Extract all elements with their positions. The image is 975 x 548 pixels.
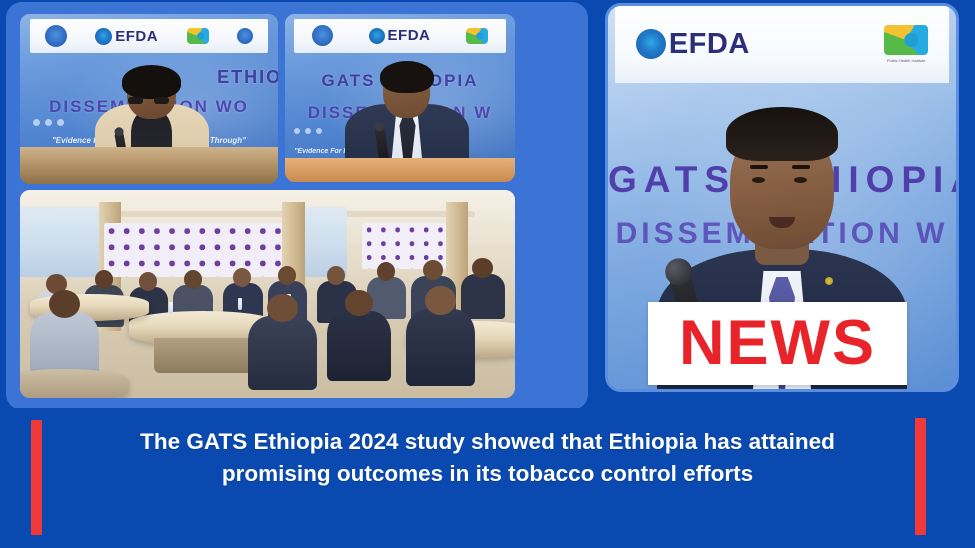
news-badge-label: NEWS bbox=[679, 312, 876, 375]
efda-logo-icon: EFDA bbox=[369, 27, 431, 44]
podium-table bbox=[285, 158, 515, 182]
lapel-pin-icon bbox=[825, 277, 833, 285]
efda-logo-text: EFDA bbox=[115, 28, 158, 45]
photo-man-speaker: EFDA GATS ETHIOPIA DISSEMINATION W "Evid… bbox=[285, 14, 515, 182]
who-logo-icon bbox=[45, 25, 67, 47]
who-logo-icon bbox=[312, 25, 333, 46]
round-table bbox=[20, 369, 129, 398]
water-bottle bbox=[169, 302, 173, 314]
efda-logo-icon: EFDA bbox=[636, 28, 750, 61]
eyeglasses-icon bbox=[128, 97, 143, 103]
banner-logo-strip: EFDA Public Health Institute bbox=[615, 6, 949, 83]
attendee-foreground bbox=[327, 286, 391, 382]
caption-line-2: promising outcomes in its tobacco contro… bbox=[90, 458, 885, 490]
centenary-logo-text: Public Health Institute bbox=[887, 58, 926, 63]
efda-logo-icon: EFDA bbox=[95, 28, 158, 45]
banner-dots-icon bbox=[33, 119, 64, 126]
eye bbox=[794, 177, 807, 183]
attendee-foreground bbox=[248, 290, 317, 390]
banner-dots-icon bbox=[294, 128, 322, 134]
photo-woman-speaker: EFDA ETHIOPIA DISSEMINATION WO "Evidence… bbox=[20, 14, 278, 184]
efda-logo-text: EFDA bbox=[388, 27, 431, 44]
eye bbox=[752, 177, 765, 183]
caption-text: The GATS Ethiopia 2024 study showed that… bbox=[90, 426, 885, 490]
accent-bar-right bbox=[915, 418, 926, 535]
water-bottle bbox=[238, 298, 242, 310]
centenary-logo-icon bbox=[187, 28, 209, 44]
caption-bar: The GATS Ethiopia 2024 study showed that… bbox=[0, 408, 975, 548]
centenary-logo-icon: Public Health Institute bbox=[884, 25, 928, 63]
efda-logo-text: EFDA bbox=[669, 28, 750, 61]
hair bbox=[726, 107, 838, 161]
table-skirt bbox=[154, 338, 253, 373]
attendee-foreground bbox=[406, 282, 475, 386]
mouth bbox=[769, 217, 795, 228]
centenary-logo-icon bbox=[466, 28, 488, 44]
partner-logo-icon bbox=[237, 28, 253, 44]
podium-table bbox=[20, 147, 278, 184]
hall-window bbox=[20, 207, 99, 278]
news-badge: NEWS bbox=[648, 302, 907, 385]
photo-collage: EFDA ETHIOPIA DISSEMINATION WO "Evidence… bbox=[8, 4, 586, 408]
news-graphic: EFDA ETHIOPIA DISSEMINATION WO "Evidence… bbox=[0, 0, 975, 548]
caption-line-1: The GATS Ethiopia 2024 study showed that… bbox=[90, 426, 885, 458]
banner-logo-strip: EFDA bbox=[30, 19, 267, 53]
accent-bar-left bbox=[31, 420, 42, 535]
photo-conference-audience bbox=[20, 190, 515, 398]
